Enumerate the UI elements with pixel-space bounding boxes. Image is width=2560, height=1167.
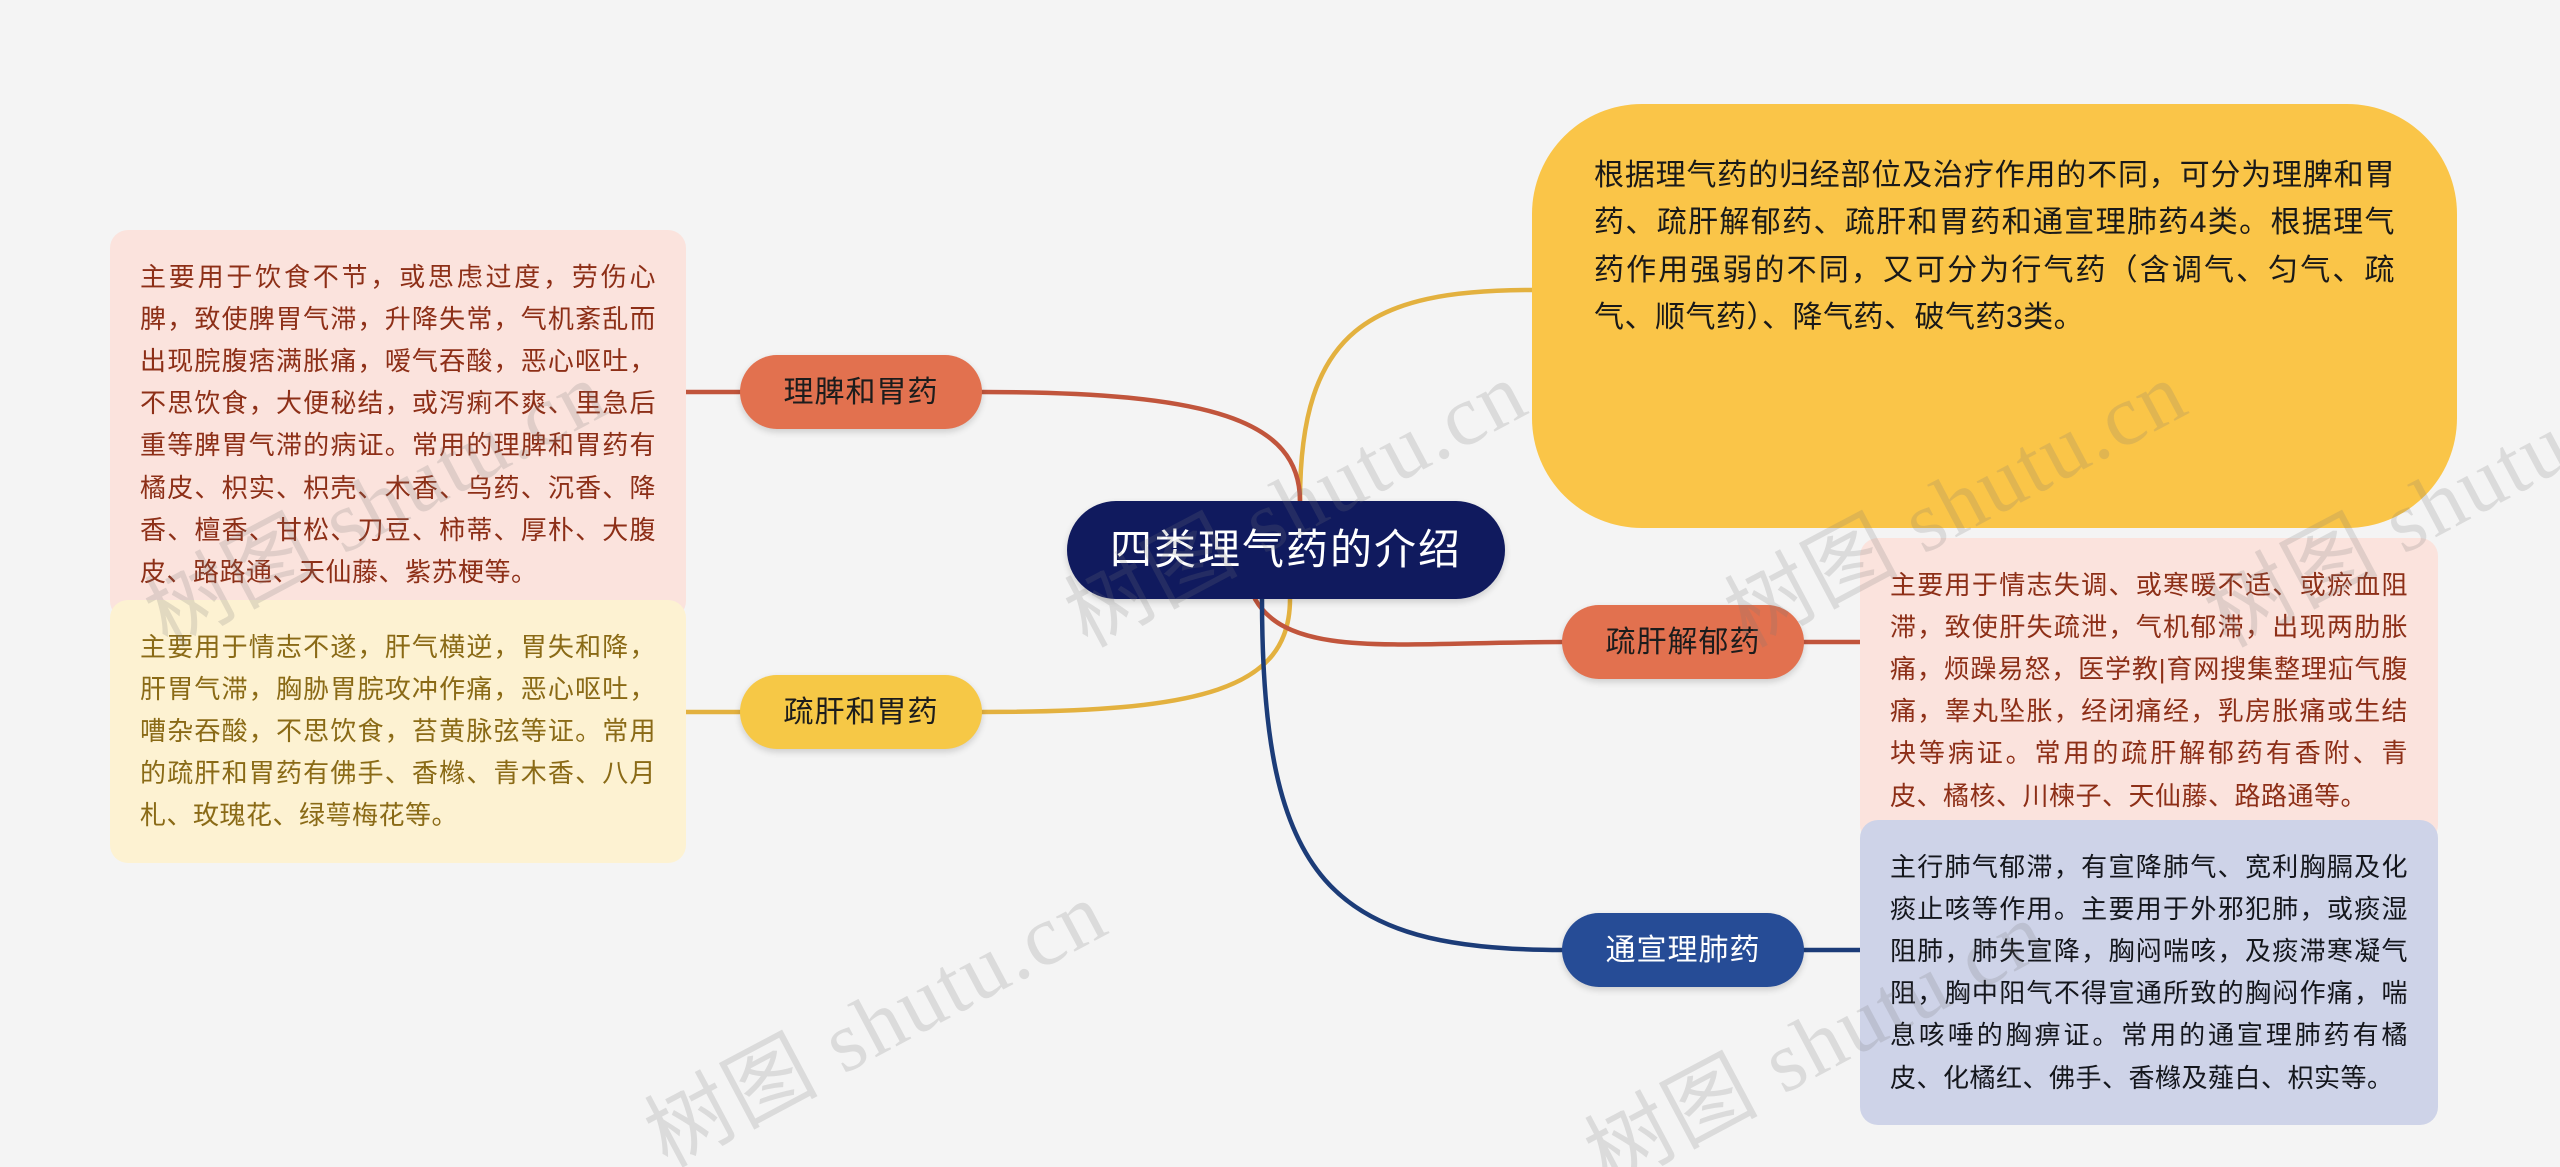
branch-node-shugan-hewei[interactable]: 疏肝和胃药: [740, 675, 982, 749]
mindmap-canvas: 主要用于饮食不节，或思虑过度，劳伤心脾，致使脾胃气滞，升降失常，气机紊乱而出现脘…: [0, 0, 2560, 1167]
connector-root-to-branch-1: [982, 599, 1290, 712]
detail-card-liping-hewei: 主要用于饮食不节，或思虑过度，劳伤心脾，致使脾胃气滞，升降失常，气机紊乱而出现脘…: [110, 230, 686, 619]
detail-card-tongxuan-lifei: 主行肺气郁滞，有宣降肺气、宽利胸膈及化痰止咳等作用。主要用于外邪犯肺，或痰湿阻肺…: [1860, 820, 2438, 1125]
detail-card-shugan-jieyu: 主要用于情志失调、或寒暖不适、或瘀血阻滞，致使肝失疏泄，气机郁滞，出现两肋胀痛，…: [1860, 538, 2438, 843]
detail-card-overview: 根据理气药的归经部位及治疗作用的不同，可分为理脾和胃药、疏肝解郁药、疏肝和胃药和…: [1532, 104, 2457, 528]
root-node[interactable]: 四类理气药的介绍: [1067, 501, 1505, 599]
connector-root-to-branch-3: [1262, 599, 1562, 950]
branch-node-shugan-jieyu[interactable]: 疏肝解郁药: [1562, 605, 1804, 679]
branch-node-liping-hewei[interactable]: 理脾和胃药: [740, 355, 982, 429]
connector-root-to-branch-0: [982, 392, 1300, 501]
branch-node-tongxuan-lifei[interactable]: 通宣理肺药: [1562, 913, 1804, 987]
connector-root-to-overview: [1300, 290, 1532, 501]
connector-root-to-branch-2: [1255, 599, 1562, 644]
detail-card-shugan-hewei: 主要用于情志不遂，肝气横逆，胃失和降，肝胃气滞，胸胁胃脘攻冲作痛，恶心呕吐，嘈杂…: [110, 600, 686, 863]
